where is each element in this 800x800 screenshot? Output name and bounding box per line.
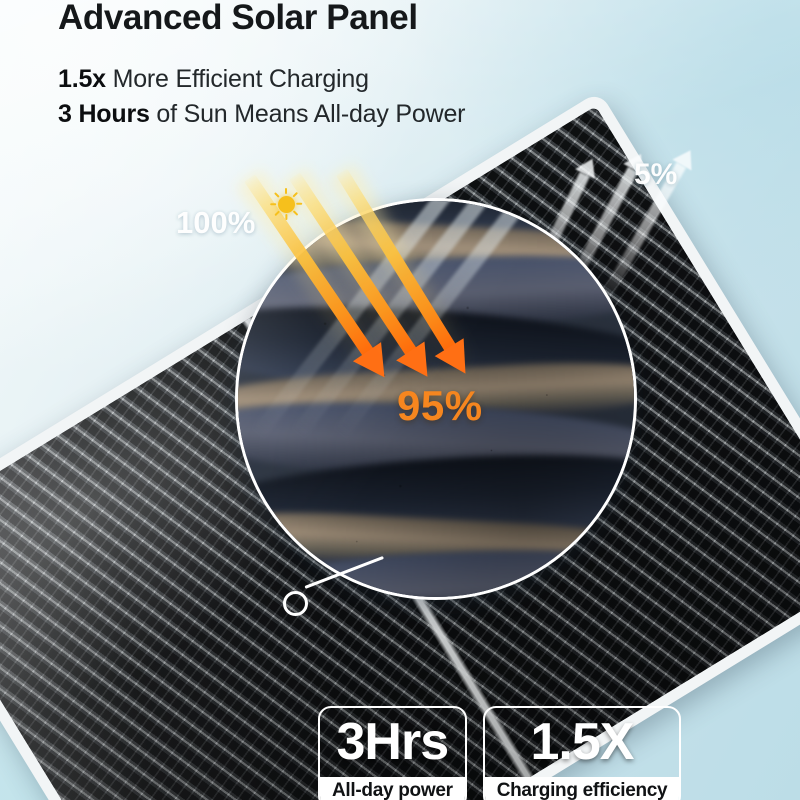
subtitle-hours-rest: of Sun Means All-day Power: [150, 100, 466, 128]
incoming-percent-label: 100%: [176, 205, 255, 241]
badge-value: 1.5X: [485, 708, 680, 777]
absorbed-percent-label: 95%: [397, 382, 483, 430]
sun-ray: [285, 188, 287, 194]
sun-ray: [292, 192, 298, 198]
badge-value: 3Hrs: [320, 708, 465, 777]
header-block: Advanced Solar Panel 1.5x More Efficient…: [58, 0, 758, 130]
sun-ray: [292, 210, 298, 216]
sun-ray: [274, 192, 280, 198]
badge-caption: All-day power: [320, 777, 465, 800]
subtitle-efficiency: 1.5x More Efficient Charging: [58, 64, 758, 95]
badge-caption: Charging efficiency: [485, 777, 680, 800]
sun-icon: [271, 189, 301, 219]
subtitle-efficiency-strong: 1.5x: [58, 65, 106, 93]
sun-ray: [270, 203, 276, 205]
reflected-percent-label: 5%: [634, 158, 677, 192]
sun-ray: [274, 210, 280, 216]
subtitle-hours: 3 Hours of Sun Means All-day Power: [58, 99, 758, 130]
subtitle-efficiency-rest: More Efficient Charging: [106, 65, 369, 93]
marketing-image-stage: 100% 5% 95% Advanced Solar Panel 1.5x Mo…: [0, 0, 800, 800]
badge-charging-efficiency: 1.5X Charging efficiency: [483, 706, 682, 800]
page-title: Advanced Solar Panel: [58, 0, 758, 38]
subtitle-hours-strong: 3 Hours: [58, 100, 150, 128]
feature-badges: 3Hrs All-day power 1.5X Charging efficie…: [318, 706, 681, 800]
sun-ray: [285, 214, 287, 220]
badge-all-day-power: 3Hrs All-day power: [318, 706, 467, 800]
